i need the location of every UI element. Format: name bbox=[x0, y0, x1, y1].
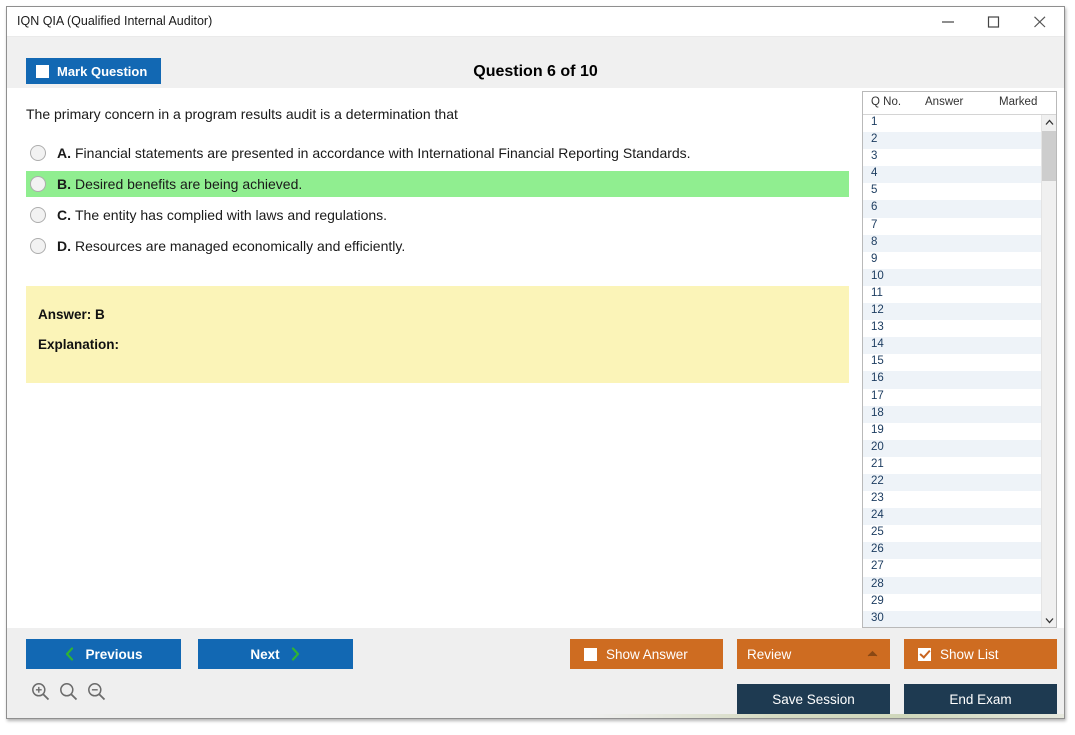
question-list-row[interactable]: 10 bbox=[863, 269, 1041, 286]
question-number: 6 bbox=[871, 201, 877, 213]
question-list-row[interactable]: 8 bbox=[863, 235, 1041, 252]
question-list-row[interactable]: 16 bbox=[863, 371, 1041, 388]
option-text: Financial statements are presented in ac… bbox=[75, 145, 691, 161]
question-list-row[interactable]: 2 bbox=[863, 132, 1041, 149]
application-window: IQN QIA (Qualified Internal Auditor) Mar… bbox=[6, 6, 1065, 719]
column-header-answer: Answer bbox=[925, 96, 963, 108]
chevron-right-icon bbox=[290, 647, 301, 661]
question-number: 26 bbox=[871, 543, 884, 555]
option-radio[interactable] bbox=[30, 145, 46, 161]
question-list-row[interactable]: 24 bbox=[863, 508, 1041, 525]
question-list-row[interactable]: 26 bbox=[863, 542, 1041, 559]
title-bar: IQN QIA (Qualified Internal Auditor) bbox=[7, 7, 1064, 37]
question-list-row[interactable]: 19 bbox=[863, 423, 1041, 440]
question-list-row[interactable]: 15 bbox=[863, 354, 1041, 371]
option-text: Resources are managed economically and e… bbox=[75, 238, 405, 254]
question-number: 8 bbox=[871, 236, 877, 248]
question-number: 7 bbox=[871, 219, 877, 231]
end-exam-label: End Exam bbox=[949, 692, 1011, 707]
question-list-row[interactable]: 28 bbox=[863, 577, 1041, 594]
maximize-icon[interactable] bbox=[972, 7, 1018, 36]
question-number: 3 bbox=[871, 150, 877, 162]
mark-question-checkbox[interactable] bbox=[36, 65, 49, 78]
option-row-c[interactable]: C.The entity has complied with laws and … bbox=[26, 202, 849, 228]
scroll-up-icon[interactable] bbox=[1042, 115, 1057, 130]
question-counter: Question 6 of 10 bbox=[7, 63, 1064, 81]
question-number: 2 bbox=[871, 133, 877, 145]
question-list-row[interactable]: 13 bbox=[863, 320, 1041, 337]
question-number: 27 bbox=[871, 560, 884, 572]
question-number: 24 bbox=[871, 509, 884, 521]
question-number: 13 bbox=[871, 321, 884, 333]
option-letter: B. bbox=[57, 176, 71, 192]
save-session-label: Save Session bbox=[772, 692, 855, 707]
header-bar: Mark Question Question 6 of 10 bbox=[7, 37, 1064, 88]
question-list-scrollbar[interactable] bbox=[1041, 115, 1056, 628]
option-radio[interactable] bbox=[30, 207, 46, 223]
question-number: 21 bbox=[871, 458, 884, 470]
question-list-header: Q No. Answer Marked bbox=[863, 92, 1056, 115]
question-number: 30 bbox=[871, 612, 884, 624]
question-list-rows[interactable]: 1234567891011121314151617181920212223242… bbox=[863, 115, 1041, 628]
question-number: 22 bbox=[871, 475, 884, 487]
question-list-row[interactable]: 11 bbox=[863, 286, 1041, 303]
question-number: 1 bbox=[871, 116, 877, 128]
question-list-row[interactable]: 23 bbox=[863, 491, 1041, 508]
question-list-row[interactable]: 4 bbox=[863, 166, 1041, 183]
mark-question-label: Mark Question bbox=[57, 64, 147, 79]
question-list-row[interactable]: 3 bbox=[863, 149, 1041, 166]
review-label: Review bbox=[747, 647, 791, 662]
explanation-label: Explanation: bbox=[38, 337, 119, 352]
question-number: 11 bbox=[871, 287, 883, 299]
column-header-marked: Marked bbox=[999, 96, 1037, 108]
question-content-pane: The primary concern in a program results… bbox=[7, 88, 857, 628]
question-list-row[interactable]: 22 bbox=[863, 474, 1041, 491]
question-list-row[interactable]: 25 bbox=[863, 525, 1041, 542]
bottom-toolbar: Previous Next Show Answer Review Show Li… bbox=[7, 628, 1064, 718]
review-dropdown-button[interactable]: Review bbox=[737, 639, 890, 669]
question-number: 25 bbox=[871, 526, 884, 538]
option-letter: D. bbox=[57, 238, 71, 254]
question-number: 12 bbox=[871, 304, 884, 316]
zoom-tools bbox=[31, 682, 106, 701]
chevron-left-icon bbox=[64, 647, 75, 661]
column-header-qno: Q No. bbox=[871, 96, 901, 108]
option-radio[interactable] bbox=[30, 176, 46, 192]
question-list-row[interactable]: 17 bbox=[863, 389, 1041, 406]
question-list-row[interactable]: 29 bbox=[863, 594, 1041, 611]
window-title: IQN QIA (Qualified Internal Auditor) bbox=[17, 14, 212, 28]
show-list-button[interactable]: Show List bbox=[904, 639, 1057, 669]
question-number: 16 bbox=[871, 372, 884, 384]
question-number: 17 bbox=[871, 390, 884, 402]
question-list-row[interactable]: 21 bbox=[863, 457, 1041, 474]
option-letter: C. bbox=[57, 207, 71, 223]
bottom-edge-tint bbox=[7, 714, 1064, 718]
option-row-a[interactable]: A.Financial statements are presented in … bbox=[26, 140, 849, 166]
next-button[interactable]: Next bbox=[198, 639, 353, 669]
question-list-row[interactable]: 14 bbox=[863, 337, 1041, 354]
question-number: 14 bbox=[871, 338, 884, 350]
show-answer-button[interactable]: Show Answer bbox=[570, 639, 723, 669]
question-number: 4 bbox=[871, 167, 877, 179]
end-exam-button[interactable]: End Exam bbox=[904, 684, 1057, 714]
question-number: 28 bbox=[871, 578, 884, 590]
question-number: 9 bbox=[871, 253, 877, 265]
question-list-panel: Q No. Answer Marked 12345678910111213141… bbox=[862, 91, 1057, 628]
zoom-out-icon[interactable] bbox=[87, 682, 106, 701]
question-stem: The primary concern in a program results… bbox=[26, 105, 836, 123]
mark-question-button[interactable]: Mark Question bbox=[26, 58, 161, 84]
previous-button[interactable]: Previous bbox=[26, 639, 181, 669]
question-number: 10 bbox=[871, 270, 884, 282]
question-list-row[interactable]: 20 bbox=[863, 440, 1041, 457]
question-number: 5 bbox=[871, 184, 877, 196]
option-text: The entity has complied with laws and re… bbox=[75, 207, 387, 223]
next-label: Next bbox=[250, 647, 279, 662]
option-row-d[interactable]: D.Resources are managed economically and… bbox=[26, 233, 849, 259]
close-icon[interactable] bbox=[1018, 7, 1064, 36]
question-list-row[interactable]: 9 bbox=[863, 252, 1041, 269]
question-number: 15 bbox=[871, 355, 884, 367]
minimize-icon[interactable] bbox=[926, 7, 972, 36]
option-radio[interactable] bbox=[30, 238, 46, 254]
show-list-label: Show List bbox=[940, 647, 999, 662]
question-list-row[interactable]: 30 bbox=[863, 611, 1041, 628]
save-session-button[interactable]: Save Session bbox=[737, 684, 890, 714]
question-number: 19 bbox=[871, 424, 884, 436]
show-answer-checkbox[interactable] bbox=[584, 648, 597, 661]
zoom-in-icon[interactable] bbox=[31, 682, 50, 701]
show-answer-label: Show Answer bbox=[606, 647, 688, 662]
show-list-checkbox[interactable] bbox=[918, 648, 931, 661]
answer-label: Answer: B bbox=[38, 307, 105, 322]
question-list-row[interactable]: 18 bbox=[863, 406, 1041, 423]
question-number: 18 bbox=[871, 407, 884, 419]
question-list-row[interactable]: 6 bbox=[863, 200, 1041, 217]
answer-explanation-panel: Answer: B Explanation: bbox=[26, 286, 849, 383]
scroll-down-icon[interactable] bbox=[1042, 613, 1057, 628]
zoom-reset-icon[interactable] bbox=[59, 682, 78, 701]
previous-label: Previous bbox=[85, 647, 142, 662]
scrollbar-thumb[interactable] bbox=[1042, 131, 1057, 181]
option-text: Desired benefits are being achieved. bbox=[75, 176, 302, 192]
question-list-row[interactable]: 1 bbox=[863, 115, 1041, 132]
question-number: 29 bbox=[871, 595, 884, 607]
question-list-row[interactable]: 5 bbox=[863, 183, 1041, 200]
answer-options-list: A.Financial statements are presented in … bbox=[26, 140, 849, 264]
question-number: 20 bbox=[871, 441, 884, 453]
question-list-row[interactable]: 12 bbox=[863, 303, 1041, 320]
chevron-up-icon bbox=[867, 650, 878, 658]
question-list-row[interactable]: 7 bbox=[863, 218, 1041, 235]
option-row-b[interactable]: B.Desired benefits are being achieved. bbox=[26, 171, 849, 197]
option-letter: A. bbox=[57, 145, 71, 161]
question-list-row[interactable]: 27 bbox=[863, 559, 1041, 576]
question-number: 23 bbox=[871, 492, 884, 504]
